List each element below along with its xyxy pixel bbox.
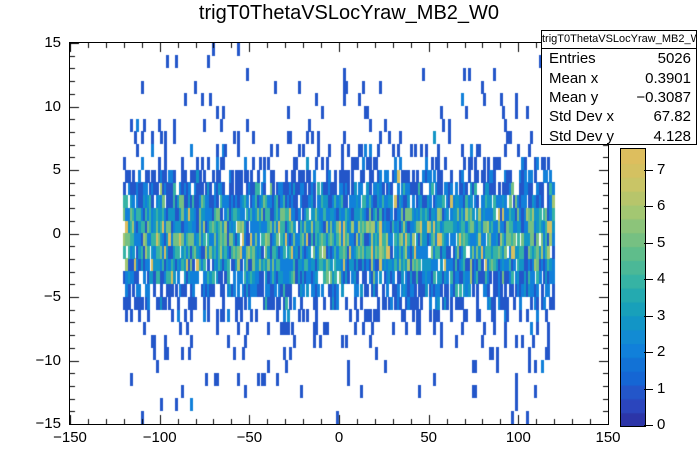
color-scale-tick-label: 1 [657,380,665,397]
statistics-row-key: Mean x [549,70,598,87]
page-title: trigT0ThetaVSLocYraw_MB2_W0 [0,2,698,25]
statistics-row-key: Mean y [549,89,598,106]
color-scale-tick [644,425,653,426]
y-axis-tick-label: −5 [0,288,61,305]
y-axis-tick-label: −10 [0,352,61,369]
color-scale-tick-label: 2 [657,343,665,360]
color-scale-tick-label: 4 [657,270,665,287]
color-scale-tick [644,352,653,353]
x-axis-tick-label: 50 [389,429,469,446]
statistics-row-key: Std Dev y [549,128,614,145]
histogram-plot-area[interactable] [69,42,609,425]
color-scale-tick-label: 7 [657,161,665,178]
x-axis-tick-label: 150 [568,429,648,446]
color-scale-tick-label: 3 [657,307,665,324]
statistics-rows: Entries5026Mean x0.3901Mean y−0.3087Std … [542,49,696,146]
x-axis-tick-label: 0 [299,429,379,446]
statistics-row: Entries5026 [542,49,696,68]
y-axis-tick-label: 5 [0,161,61,178]
x-axis-tick-label: −50 [209,429,289,446]
statistics-row-value: 5026 [658,50,691,67]
statistics-row: Mean x0.3901 [542,68,696,87]
histogram-bins [70,43,608,424]
y-axis-tick-label: 15 [0,34,61,51]
color-scale-tick [644,316,653,317]
x-axis-tick-label: −100 [120,429,200,446]
color-scale-tick [644,279,653,280]
root-canvas: trigT0ThetaVSLocYraw_MB2_W0 −15−10−50510… [0,0,698,476]
statistics-row: Std Dev x67.82 [542,107,696,126]
statistics-row: Std Dev y4.128 [542,127,696,146]
color-scale-tick-label: 5 [657,234,665,251]
color-scale-tick [644,389,653,390]
color-scale-tick [644,243,653,244]
statistics-row-value: −0.3087 [636,89,691,106]
x-axis-tick-label: −150 [30,429,110,446]
color-scale-tick [644,206,653,207]
color-scale-tick [644,170,653,171]
statistics-row-value: 67.82 [653,108,691,125]
statistics-box-title: trigT0ThetaVSLocYraw_MB2_W0 [542,31,696,49]
x-axis-tick-label: 100 [478,429,558,446]
color-scale-tick-label: 6 [657,197,665,214]
statistics-row-key: Std Dev x [549,108,614,125]
statistics-row-key: Entries [549,50,596,67]
color-scale-labels: 01234567 [620,148,680,425]
statistics-row: Mean y−0.3087 [542,88,696,107]
y-axis-tick-label: 0 [0,225,61,242]
statistics-box[interactable]: trigT0ThetaVSLocYraw_MB2_W0 Entries5026M… [541,30,697,145]
statistics-row-value: 0.3901 [645,70,691,87]
statistics-row-value: 4.128 [653,128,691,145]
color-scale-tick-label: 0 [657,416,665,433]
y-axis-tick-label: 10 [0,98,61,115]
